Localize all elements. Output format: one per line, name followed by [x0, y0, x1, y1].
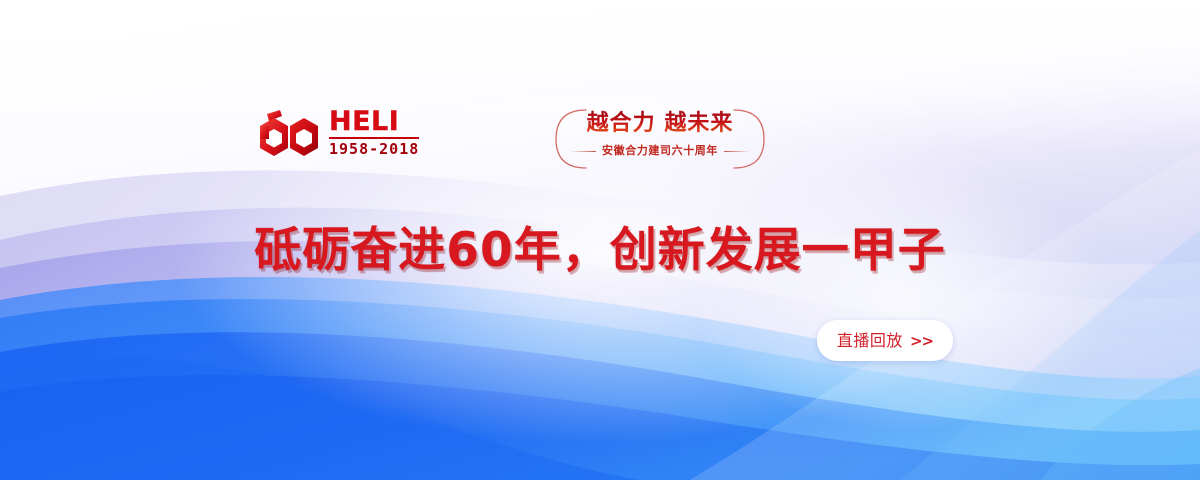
anniversary-slogan-block: 越合力 越未来 安徽合力建司六十周年	[552, 106, 768, 172]
heli-wordmark-block: HELI 1958-2018	[329, 108, 419, 157]
slogan-rule-left	[570, 151, 596, 152]
live-replay-label: 直播回放	[837, 332, 903, 350]
logo-divider-rule	[329, 137, 419, 139]
heli-brand-text: HELI	[329, 108, 419, 135]
heli-anniversary-logo: HELI 1958-2018	[258, 108, 419, 157]
live-replay-button[interactable]: 直播回放 >>	[817, 320, 953, 361]
anniversary-years-text: 1958-2018	[329, 141, 419, 157]
slogan-subtitle-text: 安徽合力建司六十周年	[602, 144, 718, 158]
double-chevron-right-icon: >>	[910, 332, 933, 350]
slogan-main-text: 越合力 越未来	[552, 110, 768, 138]
banner-headline: 砥砺奋进60年，创新发展一甲子	[0, 222, 1200, 280]
slogan-subtitle-row: 安徽合力建司六十周年	[552, 144, 768, 158]
slogan-rule-right	[724, 151, 750, 152]
promo-banner: HELI 1958-2018 越合力 越未来 安徽合力建司六十周年 砥砺奋进60…	[0, 0, 1200, 480]
sixty-hexagon-mark	[258, 109, 320, 157]
